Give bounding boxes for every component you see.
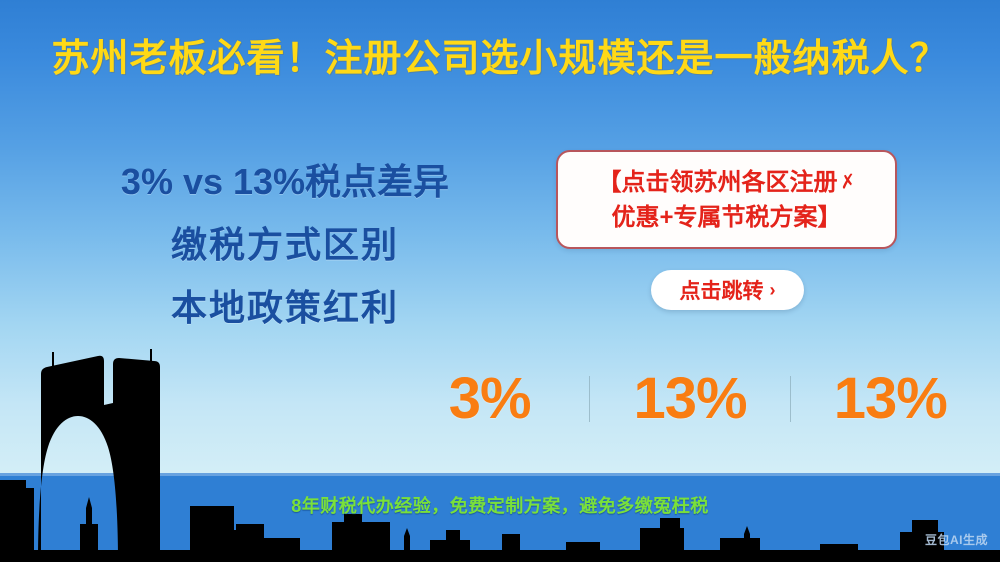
cursor-mark-icon: ✗: [837, 165, 857, 200]
poster-canvas: 苏州老板必看！注册公司选小规模还是一般纳税人？ 3% vs 13%税点差异 缴税…: [0, 0, 1000, 562]
bottom-strip-text: 8年财税代办经验，免费定制方案，避免多缴冤枉税: [0, 492, 1000, 518]
stat-divider-1: [589, 376, 590, 422]
stats-row: 3% 13% 13%: [390, 368, 990, 430]
jump-button[interactable]: 点击跳转 ›: [651, 270, 804, 310]
jump-button-label: 点击跳转: [680, 275, 764, 305]
cta-line-1-text: 【点击领苏州各区注册: [598, 169, 838, 196]
watermark: 豆包AI生成: [925, 531, 988, 548]
cta-line-2: 优惠+专属节税方案】: [611, 201, 841, 234]
stat-value-3: 13%: [791, 368, 990, 430]
bullet-item-2: 缴税方式区别: [60, 213, 510, 276]
water-horizon-line: [0, 473, 1000, 476]
cta-card[interactable]: 【点击领苏州各区注册✗ 优惠+专属节税方案】: [556, 150, 897, 249]
chevron-right-icon: ›: [770, 281, 776, 299]
stat-divider-2: [790, 376, 791, 422]
stat-value-2: 13%: [590, 368, 789, 430]
bullet-item-1: 3% vs 13%税点差异: [60, 150, 510, 213]
bullet-list: 3% vs 13%税点差异 缴税方式区别 本地政策红利: [60, 150, 510, 339]
cta-line-1: 【点击领苏州各区注册✗: [598, 166, 856, 201]
page-title: 苏州老板必看！注册公司选小规模还是一般纳税人？: [0, 27, 1000, 82]
bullet-item-3: 本地政策红利: [60, 276, 510, 339]
stat-value-1: 3%: [390, 368, 589, 430]
